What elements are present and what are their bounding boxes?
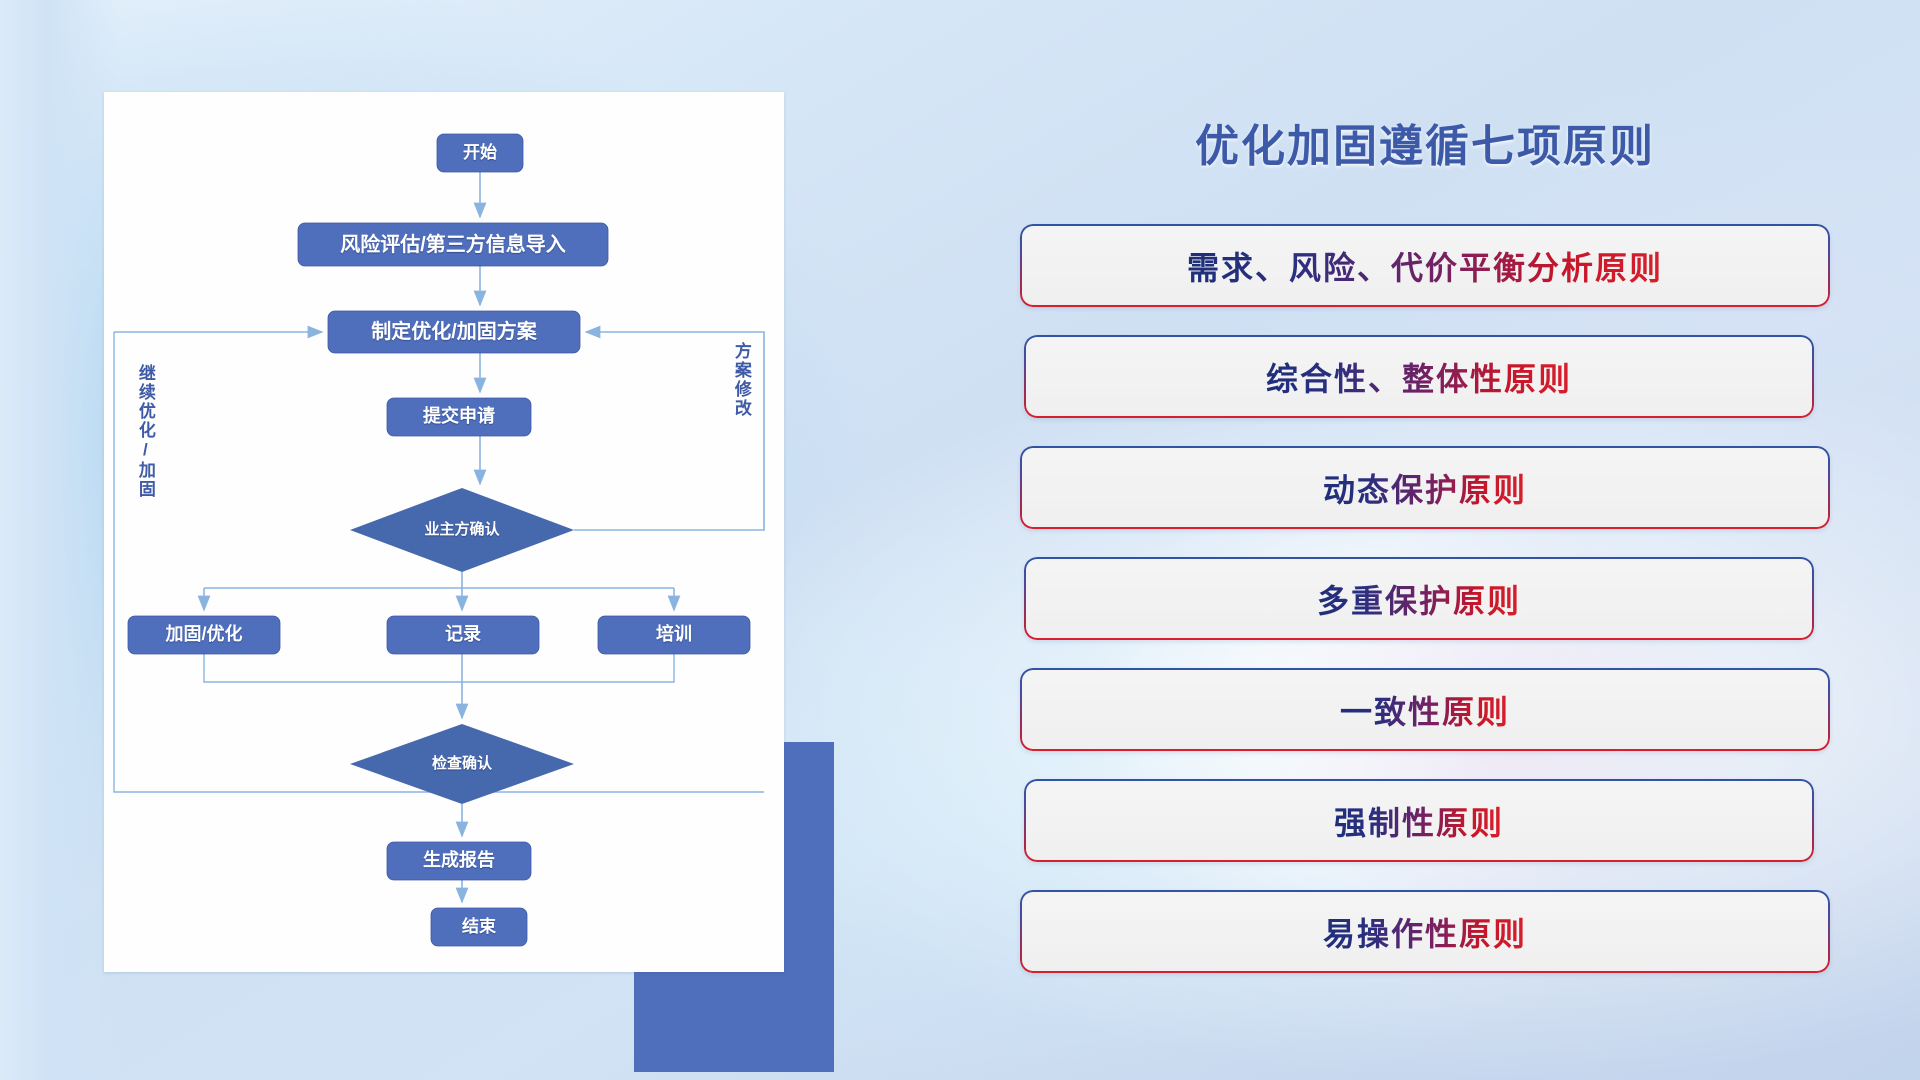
principle-card-2[interactable]: 综合性、整体性原则: [1024, 335, 1814, 418]
flow-node-record[interactable]: [387, 616, 539, 654]
principle-card-1[interactable]: 需求、风险、代价平衡分析原则: [1020, 224, 1830, 307]
flow-node-start[interactable]: [437, 134, 523, 172]
principle-card-4[interactable]: 多重保护原则: [1024, 557, 1814, 640]
principle-card-7[interactable]: 易操作性原则: [1020, 890, 1830, 973]
flow-node-train[interactable]: [598, 616, 750, 654]
principles-card-list: 需求、风险、代价平衡分析原则综合性、整体性原则动态保护原则多重保护原则一致性原则…: [1020, 224, 1830, 1001]
flow-node-reinforce[interactable]: [128, 616, 280, 654]
principle-card-label: 一致性原则: [1340, 687, 1510, 733]
flow-edge-label-loop-left: 继续优化/加固: [136, 364, 154, 499]
flowchart-connectors: [104, 92, 784, 972]
flow-edge-label-loop-right: 方案修改: [732, 342, 750, 418]
principle-card-label: 强制性原则: [1334, 798, 1504, 844]
flow-node-plan[interactable]: [328, 311, 580, 353]
flow-node-risk[interactable]: [298, 223, 608, 266]
flow-node-submit[interactable]: [387, 398, 531, 436]
panel-title: 优化加固遵循七项原则: [1020, 110, 1830, 174]
flow-node-owner[interactable]: [350, 488, 574, 572]
flowchart-canvas: 开始风险评估/第三方信息导入制定优化/加固方案提交申请业主方确认加固/优化记录培…: [104, 92, 784, 972]
flowchart-panel: 开始风险评估/第三方信息导入制定优化/加固方案提交申请业主方确认加固/优化记录培…: [104, 92, 794, 982]
principle-card-label: 动态保护原则: [1323, 465, 1527, 511]
principle-card-5[interactable]: 一致性原则: [1020, 668, 1830, 751]
principle-card-label: 易操作性原则: [1323, 909, 1527, 955]
principle-card-label: 多重保护原则: [1317, 576, 1521, 622]
principle-card-6[interactable]: 强制性原则: [1024, 779, 1814, 862]
flow-node-report[interactable]: [387, 842, 531, 880]
principle-card-3[interactable]: 动态保护原则: [1020, 446, 1830, 529]
principles-panel: 优化加固遵循七项原则 需求、风险、代价平衡分析原则综合性、整体性原则动态保护原则…: [1020, 96, 1830, 996]
principle-card-label: 综合性、整体性原则: [1266, 354, 1572, 400]
flow-node-end[interactable]: [431, 908, 527, 946]
principle-card-label: 需求、风险、代价平衡分析原则: [1187, 243, 1663, 289]
